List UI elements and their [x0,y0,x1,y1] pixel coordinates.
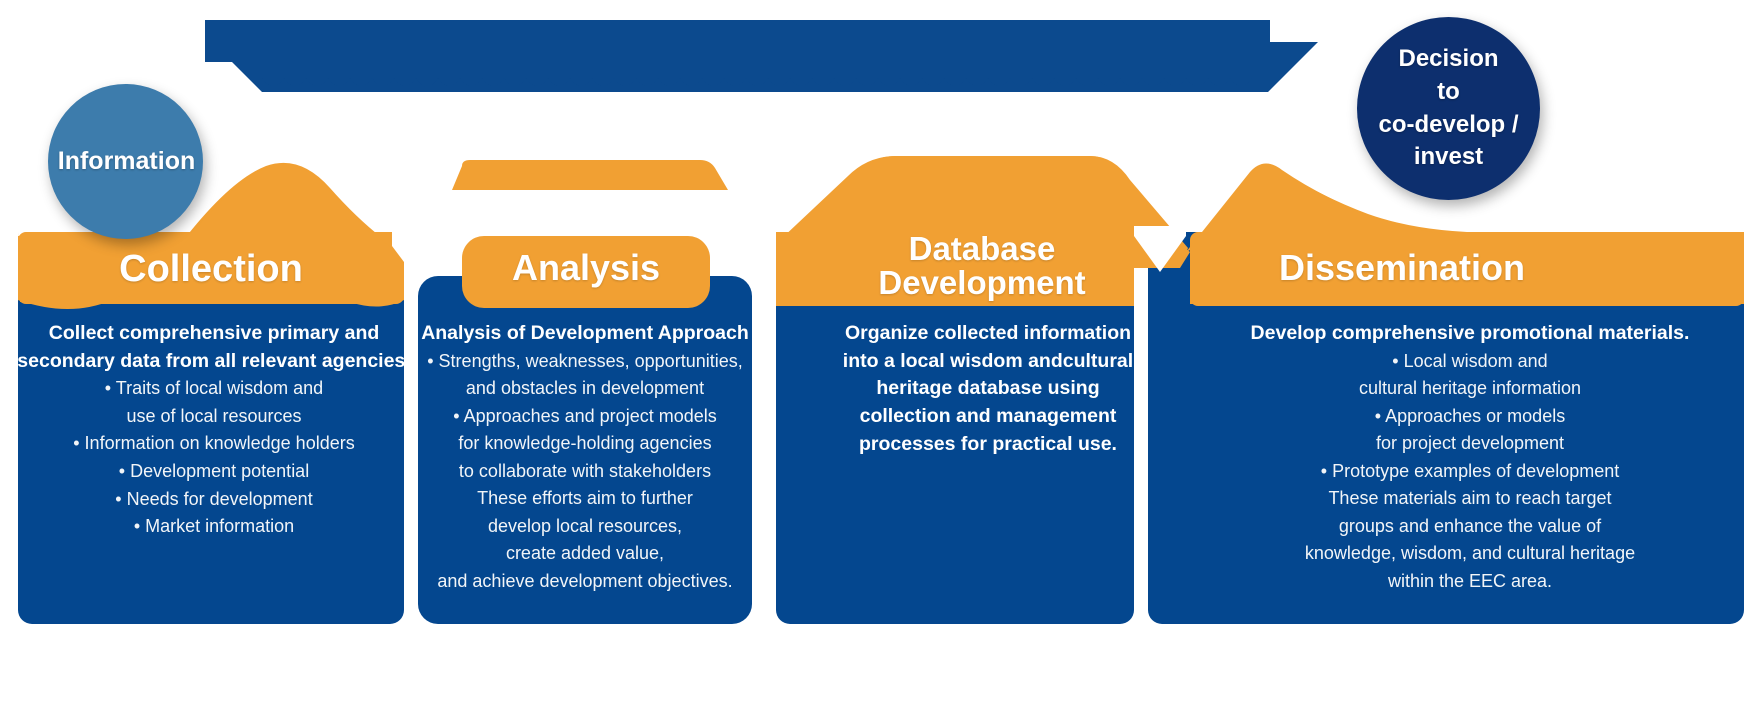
bullet-line: and achieve development objectives. [418,568,752,596]
stage-body-analysis: Analysis of Development Approach • Stren… [418,320,752,595]
bullet-line: • Traits of local wisdom and [14,375,414,403]
stage-title-collection: Collection [18,250,404,289]
notch-database-dissemination [1134,226,1186,272]
infographic-canvas: Information Decision to co-develop / inv… [0,0,1750,713]
stage-body-collection: Collect comprehensive primary and second… [14,320,414,541]
stage-lead-analysis: Analysis of Development Approach [418,320,752,348]
information-circle-label: Information [58,147,196,176]
decision-line-1: Decision [1398,45,1498,72]
bullet-line: use of local resources [14,403,414,431]
stage-title-analysis: Analysis [462,250,710,287]
bullet-line: knowledge, wisdom, and cultural heritage [1196,540,1744,568]
decision-line-4: invest [1414,143,1483,170]
bullet-line: • Approaches or models [1196,403,1744,431]
bullet-line: • Approaches and project models [418,403,752,431]
bullet-line: These efforts aim to further [418,485,752,513]
bullet-line: • Market information [14,513,414,541]
stage-title-dissemination: Dissemination [1252,250,1552,287]
decision-circle-label: Decision to co-develop / invest [1378,43,1518,174]
bullet-line: and obstacles in development [418,375,752,403]
stage-title-database: Database Development [862,232,1102,299]
stage-lead-database: Organize collected information into a lo… [842,320,1134,458]
decision-line-3: co-develop / [1378,111,1518,138]
bullet-line: • Strengths, weaknesses, opportunities, [418,348,752,376]
decision-line-2: to [1437,78,1460,105]
stage-bullets-collection: • Traits of local wisdom anduse of local… [14,375,414,540]
stage-bullets-dissemination: • Local wisdom andcultural heritage info… [1196,348,1744,596]
decision-circle[interactable]: Decision to co-develop / invest [1357,17,1540,200]
stage-title-database-line1: Database [862,232,1102,266]
bullet-line: cultural heritage information [1196,375,1744,403]
information-circle[interactable]: Information [48,84,203,239]
bullet-line: • Prototype examples of development [1196,458,1744,486]
gap-database-dissemination [1134,308,1148,628]
stage-bullets-analysis: • Strengths, weaknesses, opportunities,a… [418,348,752,596]
bullet-line: • Local wisdom and [1196,348,1744,376]
stage-title-database-line2: Development [862,266,1102,300]
stage-lead-dissemination: Develop comprehensive promotional materi… [1196,320,1744,348]
stage-lead-collection: Collect comprehensive primary and second… [14,320,414,375]
bullet-line: create added value, [418,540,752,568]
stage-body-dissemination: Develop comprehensive promotional materi… [1196,320,1744,595]
bullet-line: for project development [1196,430,1744,458]
bullet-line: • Needs for development [14,486,414,514]
bullet-line: to collaborate with stakeholders [418,458,752,486]
stage-body-database: Organize collected information into a lo… [842,320,1134,458]
bullet-line: within the EEC area. [1196,568,1744,596]
bullet-line: groups and enhance the value of [1196,513,1744,541]
bullet-line: • Development potential [14,458,414,486]
bullet-line: develop local resources, [418,513,752,541]
bullet-line: • Information on knowledge holders [14,430,414,458]
bullet-line: These materials aim to reach target [1196,485,1744,513]
bullet-line: for knowledge-holding agencies [418,430,752,458]
gap-analysis-database [752,226,776,626]
